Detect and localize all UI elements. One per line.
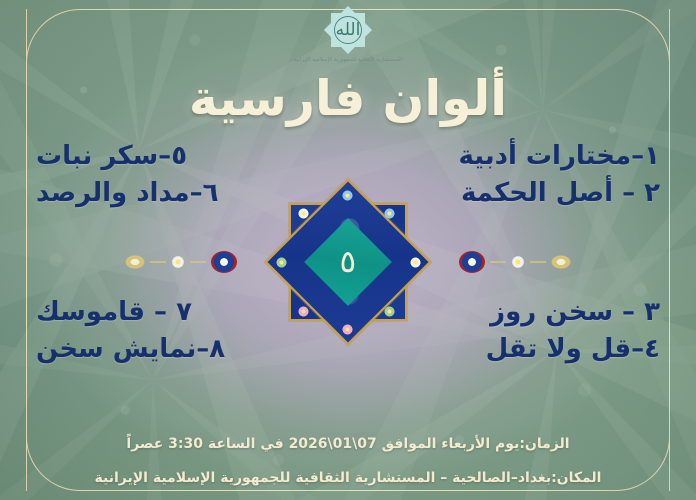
organization-subtitle: المستشارية الثقافية للجمهورية الإسلامية …	[294, 57, 402, 63]
list-item: ٣ – سخن روز	[458, 294, 660, 331]
event-poster: الله المستشارية الثقافية للجمهورية الإسل…	[0, 0, 696, 500]
footer-block: الزمان:يوم الأربعاء الموافق 07\01\2026 ف…	[0, 436, 696, 486]
list-item: ٨–نمايش سخن	[36, 331, 225, 368]
list-item: ٤–قل ولا تقل	[458, 331, 660, 368]
emblem-inner-glyph: الله	[334, 16, 362, 44]
event-time-line: الزمان:يوم الأربعاء الموافق 07\01\2026 ف…	[0, 436, 696, 452]
list-item: ٢ – أصل الحكمة	[458, 175, 660, 212]
medallion-number: ٥	[340, 247, 357, 278]
floret-icon	[342, 190, 353, 201]
programme-list-left: ٥–سكر نبات ٦–مداد والرصد ٧ – قاموسك ٨–نم…	[36, 138, 225, 368]
central-medallion: ٥	[264, 178, 432, 346]
floret-icon	[276, 257, 287, 268]
floret-icon	[384, 208, 395, 219]
floret-icon	[298, 208, 309, 219]
floret-icon	[410, 257, 421, 268]
iran-emblem-icon: الله	[324, 6, 372, 54]
floret-icon	[342, 324, 353, 335]
list-item: ٦–مداد والرصد	[36, 175, 225, 212]
list-item: ٧ – قاموسك	[36, 294, 225, 331]
floret-icon	[384, 306, 395, 317]
page-title: ألوان فارسية	[0, 70, 696, 127]
programme-list-right: ١–مختارات أدبية ٢ – أصل الحكمة ٣ – سخن ر…	[458, 138, 660, 368]
list-item: ٥–سكر نبات	[36, 138, 225, 175]
list-item: ١–مختارات أدبية	[458, 138, 660, 175]
event-place-line: المكان:بغداد–الصالحية – المستشارية الثقا…	[0, 470, 696, 486]
header-emblem-block: الله المستشارية الثقافية للجمهورية الإسل…	[0, 6, 696, 63]
floret-icon	[298, 306, 309, 317]
